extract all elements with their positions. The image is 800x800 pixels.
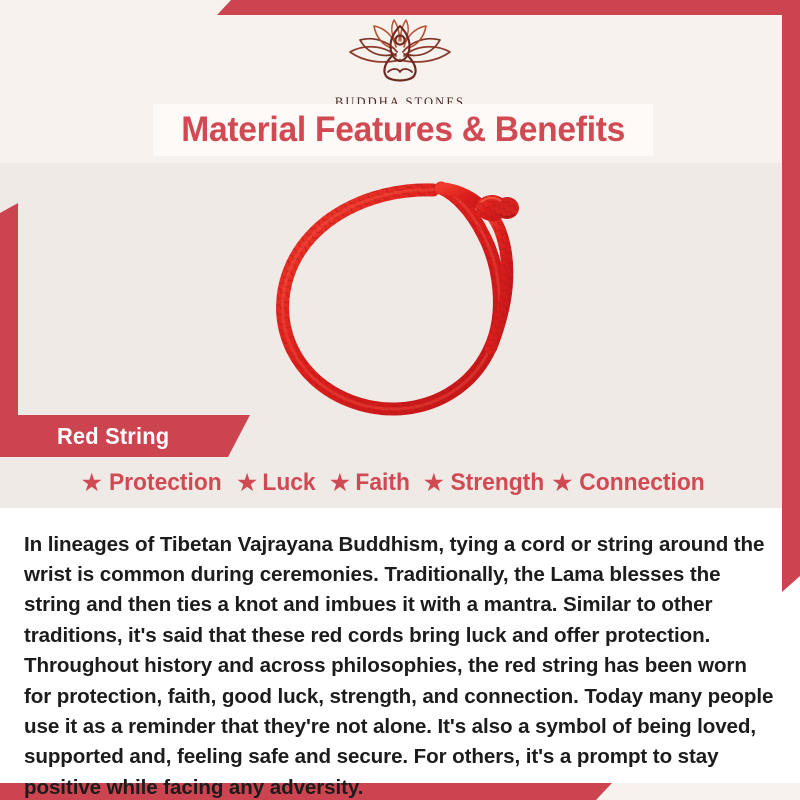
benefit-label: Connection [579,469,704,497]
star-icon: ★ [237,472,257,494]
benefit-label: Luck [262,469,315,497]
red-string-bracelet-image [243,168,573,420]
page-title: Material Features & Benefits [153,104,653,156]
decorative-bar-top [217,0,800,15]
lotus-meditation-icon [342,14,458,93]
benefit-label: Strength [450,469,544,497]
benefit-item: ★Luck [237,469,317,497]
ribbon-label: Red String [57,423,169,450]
star-icon: ★ [552,472,572,494]
benefit-item: ★Faith [330,469,411,497]
benefit-label: Protection [109,469,222,497]
decorative-bar-left [0,203,18,418]
brand-header: BUDDHA STONES [0,14,800,110]
star-icon: ★ [82,472,102,494]
infographic-page: BUDDHA STONES Material Features & Benefi… [0,0,800,800]
benefit-label: Faith [355,469,409,497]
star-icon: ★ [330,472,350,494]
body-paragraph: In lineages of Tibetan Vajrayana Buddhis… [24,530,776,800]
benefits-row: ★Protection★Luck★Faith★Strength★Connecti… [0,466,790,500]
benefit-item: ★Protection [82,469,224,497]
star-icon: ★ [424,472,444,494]
benefit-item: ★Connection [552,469,708,497]
ribbon-red-string: Red String [0,415,250,457]
benefit-item: ★Strength [424,469,546,497]
page-title-text: Material Features & Benefits [181,110,625,150]
